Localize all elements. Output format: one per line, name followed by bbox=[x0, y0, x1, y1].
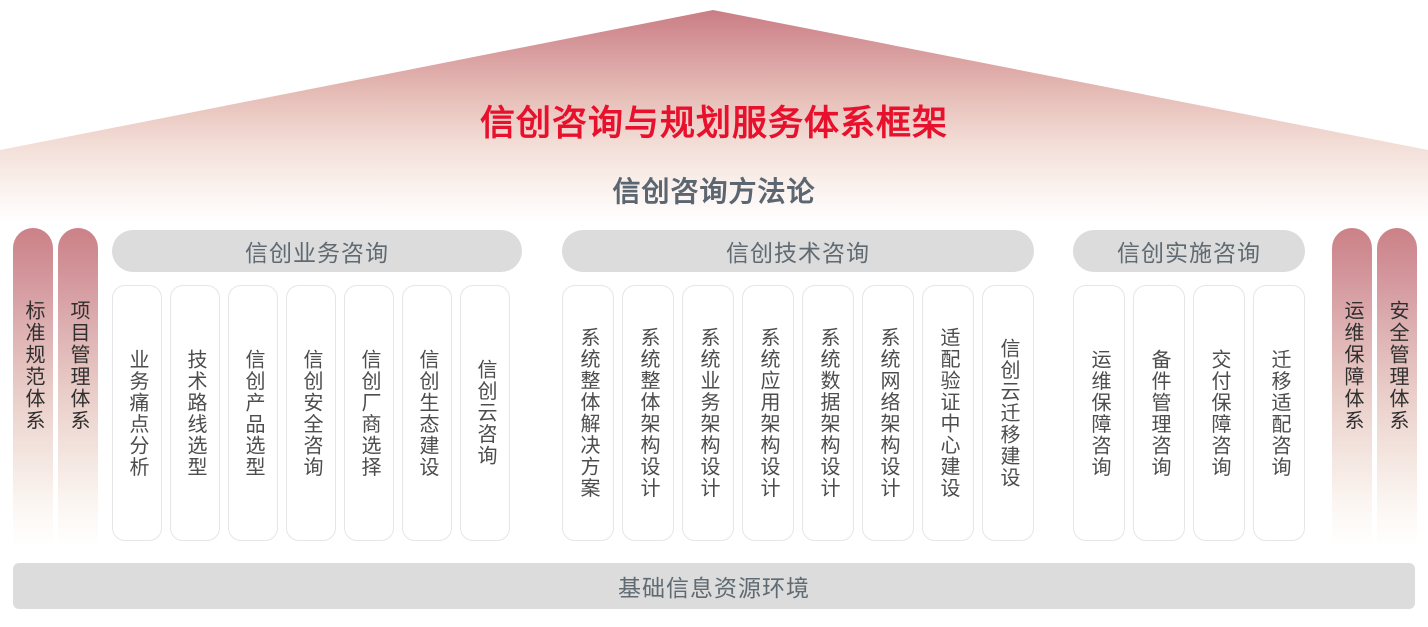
group-implementation-consulting: 信创实施咨询 运维保障咨询 备件管理咨询 交付保障咨询 迁移适配咨询 bbox=[1073, 230, 1305, 541]
pillar-label: 安全管理体系 bbox=[1387, 300, 1407, 432]
service-card-label: 信创生态建设 bbox=[417, 349, 437, 478]
group-business-consulting: 信创业务咨询 业务痛点分析 技术路线选型 信创产品选型 信创安全咨询 信创厂商选… bbox=[112, 230, 522, 541]
service-card[interactable]: 适配验证中心建设 bbox=[922, 285, 974, 541]
service-card-label: 系统网络架构设计 bbox=[878, 327, 898, 499]
group-header[interactable]: 信创实施咨询 bbox=[1073, 230, 1305, 272]
group-card-list: 运维保障咨询 备件管理咨询 交付保障咨询 迁移适配咨询 bbox=[1073, 285, 1305, 541]
service-card-label: 系统业务架构设计 bbox=[698, 327, 718, 499]
group-technology-consulting: 信创技术咨询 系统整体解决方案 系统整体架构设计 系统业务架构设计 系统应用架构… bbox=[562, 230, 1034, 541]
service-card-label: 系统数据架构设计 bbox=[818, 327, 838, 499]
service-card[interactable]: 交付保障咨询 bbox=[1193, 285, 1245, 541]
pillar-label-wrap: 安全管理体系 bbox=[1377, 300, 1417, 432]
service-card[interactable]: 系统数据架构设计 bbox=[802, 285, 854, 541]
service-card[interactable]: 信创云迁移建设 bbox=[982, 285, 1034, 541]
page-subtitle: 信创咨询方法论 bbox=[0, 170, 1428, 210]
pillar-ops-assurance-system[interactable]: 运维保障体系 bbox=[1332, 228, 1372, 546]
group-card-list: 系统整体解决方案 系统整体架构设计 系统业务架构设计 系统应用架构设计 系统数据… bbox=[562, 285, 1034, 541]
service-card-label: 适配验证中心建设 bbox=[938, 327, 958, 499]
service-card-label: 迁移适配咨询 bbox=[1269, 349, 1289, 478]
foundation-bar[interactable]: 基础信息资源环境 bbox=[13, 563, 1415, 609]
pillar-label-wrap: 标准规范体系 bbox=[13, 300, 53, 432]
group-header[interactable]: 信创业务咨询 bbox=[112, 230, 522, 272]
service-card[interactable]: 技术路线选型 bbox=[170, 285, 220, 541]
pillar-label-wrap: 运维保障体系 bbox=[1332, 300, 1372, 432]
service-card[interactable]: 信创产品选型 bbox=[228, 285, 278, 541]
pillar-standard-spec-system[interactable]: 标准规范体系 bbox=[13, 228, 53, 546]
group-header[interactable]: 信创技术咨询 bbox=[562, 230, 1034, 272]
service-card-label: 业务痛点分析 bbox=[127, 349, 147, 478]
service-card-label: 运维保障咨询 bbox=[1089, 349, 1109, 478]
service-card[interactable]: 运维保障咨询 bbox=[1073, 285, 1125, 541]
pillar-label: 标准规范体系 bbox=[23, 300, 43, 432]
service-card[interactable]: 系统整体架构设计 bbox=[622, 285, 674, 541]
service-card-label: 信创云咨询 bbox=[475, 359, 495, 467]
service-card-label: 系统整体解决方案 bbox=[578, 327, 598, 499]
service-card[interactable]: 系统整体解决方案 bbox=[562, 285, 614, 541]
service-card-label: 备件管理咨询 bbox=[1149, 349, 1169, 478]
service-card-label: 技术路线选型 bbox=[185, 349, 205, 478]
service-card[interactable]: 业务痛点分析 bbox=[112, 285, 162, 541]
service-card[interactable]: 信创生态建设 bbox=[402, 285, 452, 541]
service-card-label: 信创云迁移建设 bbox=[998, 338, 1018, 489]
service-card[interactable]: 系统应用架构设计 bbox=[742, 285, 794, 541]
pillar-project-management-system[interactable]: 项目管理体系 bbox=[58, 228, 98, 546]
service-card[interactable]: 系统业务架构设计 bbox=[682, 285, 734, 541]
pillar-label-wrap: 项目管理体系 bbox=[58, 300, 98, 432]
service-card-label: 信创安全咨询 bbox=[301, 349, 321, 478]
service-card-label: 交付保障咨询 bbox=[1209, 349, 1229, 478]
group-card-list: 业务痛点分析 技术路线选型 信创产品选型 信创安全咨询 信创厂商选择 信创生态建… bbox=[112, 285, 522, 541]
service-card[interactable]: 迁移适配咨询 bbox=[1253, 285, 1305, 541]
service-card-label: 信创厂商选择 bbox=[359, 349, 379, 478]
page-title: 信创咨询与规划服务体系框架 bbox=[0, 95, 1428, 146]
service-card[interactable]: 信创厂商选择 bbox=[344, 285, 394, 541]
service-card[interactable]: 系统网络架构设计 bbox=[862, 285, 914, 541]
service-card-label: 系统应用架构设计 bbox=[758, 327, 778, 499]
service-card-label: 系统整体架构设计 bbox=[638, 327, 658, 499]
pillar-label: 运维保障体系 bbox=[1342, 300, 1362, 432]
service-card[interactable]: 信创云咨询 bbox=[460, 285, 510, 541]
service-card[interactable]: 备件管理咨询 bbox=[1133, 285, 1185, 541]
service-card-label: 信创产品选型 bbox=[243, 349, 263, 478]
pillar-label: 项目管理体系 bbox=[68, 300, 88, 432]
service-card[interactable]: 信创安全咨询 bbox=[286, 285, 336, 541]
pillar-security-management-system[interactable]: 安全管理体系 bbox=[1377, 228, 1417, 546]
